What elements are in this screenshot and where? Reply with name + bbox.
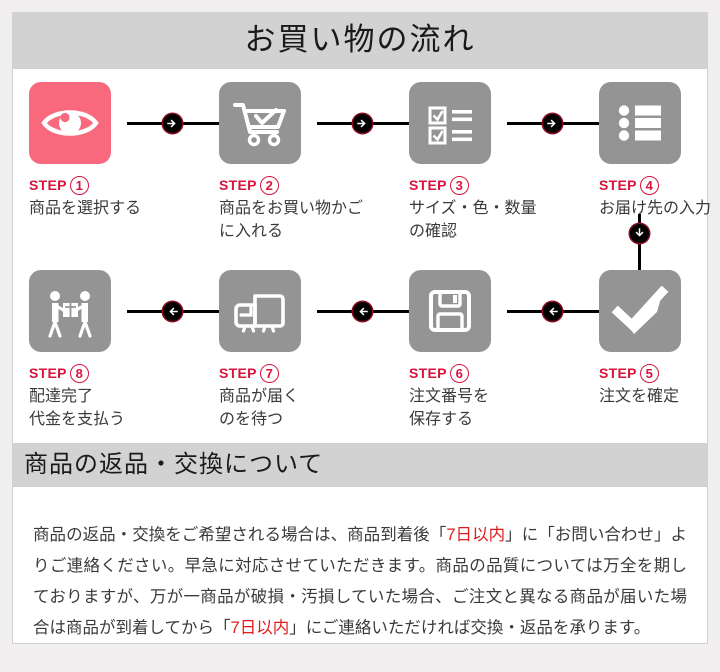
shopping-flow-page: お買い物の流れ [0,0,720,672]
step-3-description: サイズ・色・数量 の確認 [409,197,599,243]
arrow-right-badge-2 [353,114,372,133]
step-8-description: 配達完了 代金を支払う [29,385,219,431]
step-7-tile [219,270,301,352]
flow-diagram-panel: STEP 1 商品を選択する STEP [12,68,708,444]
flow-step-2[interactable]: STEP 2 商品をお買い物かご に入れる [219,69,409,257]
step-number: 8 [70,364,89,383]
step-7-label: STEP 7 [219,363,409,383]
checklist-icon [409,82,491,164]
step-word: STEP [29,177,67,193]
arrow-right-badge-1 [163,114,182,133]
checkmark-icon [599,270,681,352]
step-word: STEP [599,365,637,381]
step-number: 5 [640,364,659,383]
step-6-label: STEP 6 [409,363,599,383]
step-8-tile [29,270,111,352]
step-word: STEP [29,365,67,381]
arrow-left-badge-2 [353,302,372,321]
flow-step-6[interactable]: STEP 6 注文番号を 保存する [409,257,599,445]
step-word: STEP [219,365,257,381]
flow-step-3[interactable]: STEP 3 サイズ・色・数量 の確認 [409,69,599,257]
step-4-tile [599,82,681,164]
step-2-tile [219,82,301,164]
step-2-description: 商品をお買い物かご に入れる [219,197,409,243]
flow-step-7[interactable]: STEP 7 商品が届く のを待つ [219,257,409,445]
bullet-list-icon [599,82,681,164]
eye-icon [29,82,111,164]
arrow-right-badge-3 [543,114,562,133]
step-8-label: STEP 8 [29,363,219,383]
step-number: 4 [640,176,659,195]
step-1-tile [29,82,111,164]
returns-policy-text: 商品の返品・交換をご希望される場合は、商品到着後「7日以内」に「お問い合わせ」よ… [33,520,687,644]
flow-row-bottom: STEP 8 配達完了 代金を支払う STEP [13,257,707,445]
step-number: 1 [70,176,89,195]
flow-step-1[interactable]: STEP 1 商品を選択する [29,69,219,257]
arrow-left-badge-3 [163,302,182,321]
step-4-label: STEP 4 [599,175,720,195]
policy-highlight-1: 7日以内 [446,526,505,544]
step-word: STEP [409,365,447,381]
returns-policy-title: 商品の返品・交換について [12,444,708,486]
arrow-left-badge-1 [543,302,562,321]
step-7-description: 商品が届く のを待つ [219,385,409,431]
step-word: STEP [599,177,637,193]
step-2-label: STEP 2 [219,175,409,195]
policy-highlight-2: 7日以内 [231,619,290,637]
policy-text-part-3: 」にご連絡いただければ交換・返品を承ります。 [289,619,650,637]
handover-people-icon [29,270,111,352]
floppy-disk-icon [409,270,491,352]
flow-step-5[interactable]: STEP 5 注文を確定 [599,257,720,445]
step-word: STEP [409,177,447,193]
delivery-truck-icon [219,270,301,352]
policy-text-part-1: 商品の返品・交換をご希望される場合は、商品到着後「 [33,526,446,544]
step-number: 3 [450,176,469,195]
step-5-description: 注文を確定 [599,385,720,408]
flow-step-4[interactable]: STEP 4 お届け先の入力 [599,69,720,257]
step-1-label: STEP 1 [29,175,219,195]
step-3-label: STEP 3 [409,175,599,195]
returns-policy-panel: 商品の返品・交換をご希望される場合は、商品到着後「7日以内」に「お問い合わせ」よ… [12,486,708,644]
step-number: 7 [260,364,279,383]
step-3-tile [409,82,491,164]
step-4-description: お届け先の入力 [599,197,720,220]
step-number: 6 [450,364,469,383]
arrow-down-badge [630,224,649,243]
shopping-cart-icon [219,82,301,164]
step-6-tile [409,270,491,352]
step-1-description: 商品を選択する [29,197,219,220]
step-number: 2 [260,176,279,195]
step-5-label: STEP 5 [599,363,720,383]
step-5-tile [599,270,681,352]
step-6-description: 注文番号を 保存する [409,385,599,431]
step-word: STEP [219,177,257,193]
flow-row-top: STEP 1 商品を選択する STEP [13,69,707,257]
page-title: お買い物の流れ [12,12,708,68]
flow-step-8[interactable]: STEP 8 配達完了 代金を支払う [29,257,219,445]
